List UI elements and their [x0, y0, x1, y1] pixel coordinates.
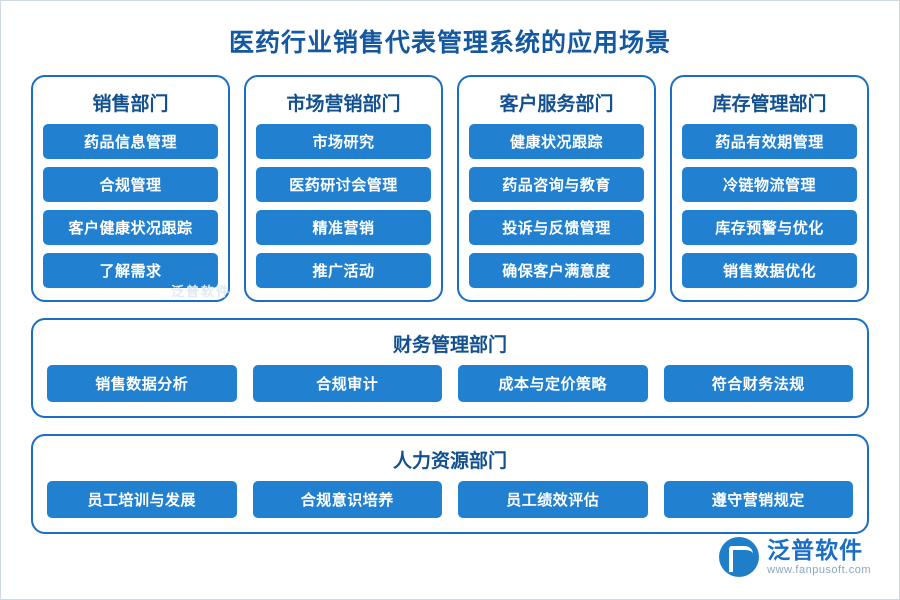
card-item-row: 销售数据分析 合规审计 成本与定价策略 符合财务法规 [47, 365, 853, 402]
card-title: 客户服务部门 [469, 89, 644, 116]
page-title: 医药行业销售代表管理系统的应用场景 [1, 23, 899, 59]
department-card-marketing: 市场营销部门 市场研究 医药研讨会管理 精准营销 推广活动 [244, 75, 443, 302]
logo-name: 泛普软件 [767, 538, 871, 563]
card-item[interactable]: 健康状况跟踪 [469, 124, 644, 159]
card-item[interactable]: 遵守营销规定 [664, 481, 854, 518]
card-item[interactable]: 药品有效期管理 [682, 124, 857, 159]
card-item[interactable]: 合规审计 [253, 365, 443, 402]
card-item[interactable]: 成本与定价策略 [458, 365, 648, 402]
card-item[interactable]: 推广活动 [256, 253, 431, 288]
logo-url: www.fanpusoft.com [767, 564, 871, 576]
department-card-finance: 财务管理部门 销售数据分析 合规审计 成本与定价策略 符合财务法规 [31, 318, 869, 418]
card-item[interactable]: 合规管理 [43, 167, 218, 202]
card-title: 人力资源部门 [47, 446, 853, 473]
card-item[interactable]: 符合财务法规 [664, 365, 854, 402]
card-item[interactable]: 药品信息管理 [43, 124, 218, 159]
card-item[interactable]: 药品咨询与教育 [469, 167, 644, 202]
diagram-page: 医药行业销售代表管理系统的应用场景 销售部门 药品信息管理 合规管理 客户健康状… [0, 0, 900, 600]
card-item[interactable]: 员工绩效评估 [458, 481, 648, 518]
card-item[interactable]: 员工培训与发展 [47, 481, 237, 518]
department-card-sales: 销售部门 药品信息管理 合规管理 客户健康状况跟踪 了解需求 [31, 75, 230, 302]
card-title: 财务管理部门 [47, 330, 853, 357]
card-item[interactable]: 了解需求 [43, 253, 218, 288]
card-item[interactable]: 医药研讨会管理 [256, 167, 431, 202]
card-item[interactable]: 精准营销 [256, 210, 431, 245]
card-item[interactable]: 市场研究 [256, 124, 431, 159]
card-item[interactable]: 确保客户满意度 [469, 253, 644, 288]
card-item[interactable]: 销售数据分析 [47, 365, 237, 402]
logo-mark-icon [719, 537, 759, 577]
brand-logo: 泛普软件 www.fanpusoft.com [719, 537, 871, 577]
card-item[interactable]: 客户健康状况跟踪 [43, 210, 218, 245]
card-item[interactable]: 合规意识培养 [253, 481, 443, 518]
department-columns: 销售部门 药品信息管理 合规管理 客户健康状况跟踪 了解需求 市场营销部门 市场… [1, 75, 899, 302]
card-title: 销售部门 [43, 89, 218, 116]
department-card-hr: 人力资源部门 员工培训与发展 合规意识培养 员工绩效评估 遵守营销规定 [31, 434, 869, 534]
department-card-inventory: 库存管理部门 药品有效期管理 冷链物流管理 库存预警与优化 销售数据优化 [670, 75, 869, 302]
card-title: 库存管理部门 [682, 89, 857, 116]
department-card-customer-service: 客户服务部门 健康状况跟踪 药品咨询与教育 投诉与反馈管理 确保客户满意度 [457, 75, 656, 302]
card-item[interactable]: 投诉与反馈管理 [469, 210, 644, 245]
card-item[interactable]: 库存预警与优化 [682, 210, 857, 245]
card-item-row: 员工培训与发展 合规意识培养 员工绩效评估 遵守营销规定 [47, 481, 853, 518]
card-item[interactable]: 冷链物流管理 [682, 167, 857, 202]
card-title: 市场营销部门 [256, 89, 431, 116]
card-item[interactable]: 销售数据优化 [682, 253, 857, 288]
logo-text: 泛普软件 www.fanpusoft.com [767, 538, 871, 575]
